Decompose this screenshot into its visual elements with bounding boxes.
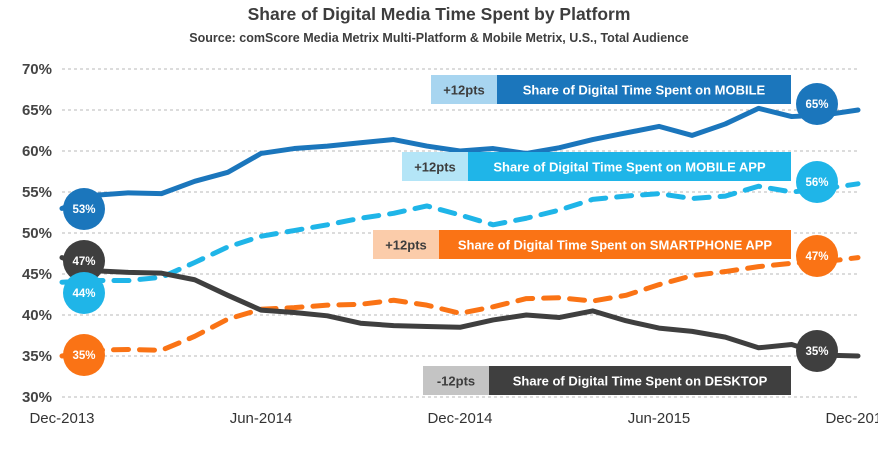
x-tick-label: Dec-2015	[825, 410, 878, 427]
x-tick-label: Dec-2014	[427, 410, 492, 427]
y-tick-label: 40%	[22, 307, 52, 324]
y-tick-label: 50%	[22, 225, 52, 242]
start-value-badge: 53%	[63, 188, 105, 230]
y-tick-label: 65%	[22, 102, 52, 119]
callout-series-name: Share of Digital Time Spent on MOBILE	[523, 83, 766, 98]
y-tick-label: 55%	[22, 184, 52, 201]
series-callout[interactable]: -12ptsShare of Digital Time Spent on DES…	[423, 366, 791, 395]
series-callout[interactable]: +12ptsShare of Digital Time Spent on MOB…	[431, 75, 791, 104]
series-callout[interactable]: +12ptsShare of Digital Time Spent on MOB…	[402, 152, 791, 181]
start-value-badge: 35%	[63, 334, 105, 376]
end-value-badge: 56%	[796, 161, 838, 203]
callout-change-label: -12pts	[437, 374, 475, 389]
badge-value: 53%	[72, 204, 95, 216]
chart-canvas: Share of Digital Media Time Spent by Pla…	[0, 0, 878, 451]
badge-value: 47%	[805, 251, 828, 263]
y-tick-label: 35%	[22, 348, 52, 365]
y-tick-label: 70%	[22, 61, 52, 78]
callout-series-name: Share of Digital Time Spent on MOBILE AP…	[493, 160, 766, 175]
y-axis-tick-labels: 30%35%40%45%50%55%60%65%70%	[22, 61, 52, 406]
x-tick-label: Jun-2014	[230, 410, 293, 427]
badge-value: 35%	[72, 350, 95, 362]
y-tick-label: 45%	[22, 266, 52, 283]
y-tick-label: 60%	[22, 143, 52, 160]
x-tick-label: Jun-2015	[628, 410, 691, 427]
start-value-badges: 53%47%44%35%	[63, 188, 105, 376]
end-value-badge: 35%	[796, 330, 838, 372]
x-tick-label: Dec-2013	[29, 410, 94, 427]
badge-value: 65%	[805, 99, 828, 111]
callout-change-label: +12pts	[385, 238, 427, 253]
y-tick-label: 30%	[22, 389, 52, 406]
callout-series-name: Share of Digital Time Spent on DESKTOP	[513, 374, 768, 389]
badge-value: 47%	[72, 256, 95, 268]
end-value-badge: 47%	[796, 235, 838, 277]
start-value-badge: 44%	[63, 272, 105, 314]
callout-series-name: Share of Digital Time Spent on SMARTPHON…	[458, 238, 773, 253]
badge-value: 44%	[72, 288, 95, 300]
badge-value: 56%	[805, 177, 828, 189]
end-value-badge: 65%	[796, 83, 838, 125]
series-callout[interactable]: +12ptsShare of Digital Time Spent on SMA…	[373, 230, 791, 259]
callout-change-label: +12pts	[414, 160, 456, 175]
badge-value: 35%	[805, 346, 828, 358]
callout-change-label: +12pts	[443, 83, 485, 98]
chart-title: Share of Digital Media Time Spent by Pla…	[248, 4, 631, 24]
chart-subtitle: Source: comScore Media Metrix Multi-Plat…	[189, 31, 688, 45]
